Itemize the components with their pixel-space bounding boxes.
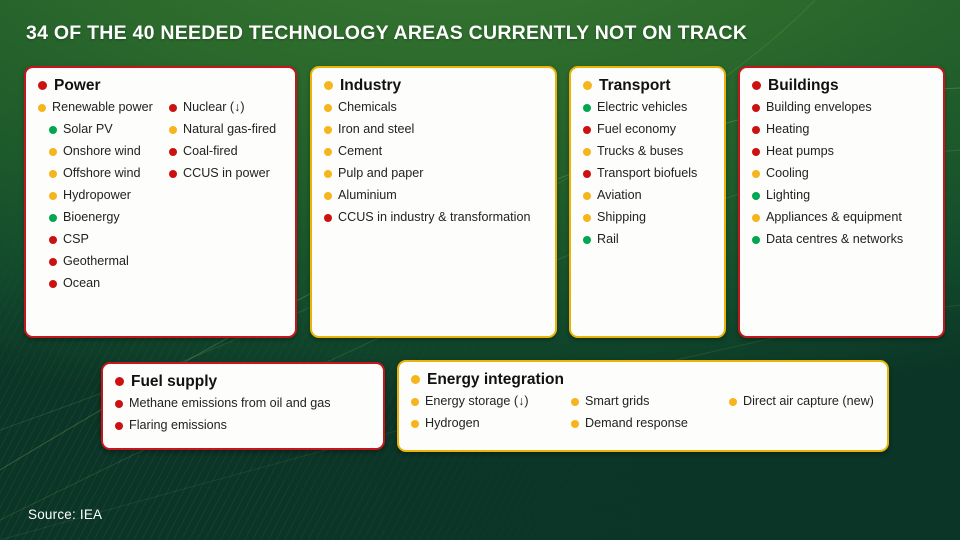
list-item-label: Electric vehicles — [597, 100, 687, 114]
list-item[interactable]: Nuclear (↓) — [169, 100, 283, 114]
list-item[interactable]: Hydropower — [38, 188, 169, 202]
panel-transport[interactable]: Transport Electric vehicles Fuel economy… — [569, 66, 726, 338]
panel-industry-title: Industry — [340, 78, 401, 94]
status-dot-amber — [411, 420, 419, 428]
list-item[interactable]: Data centres & networks — [752, 232, 931, 246]
page-title: 34 OF THE 40 NEEDED TECHNOLOGY AREAS CUR… — [26, 22, 747, 45]
list-item[interactable]: Smart grids — [571, 394, 729, 408]
list-item-label: Ocean — [63, 276, 100, 290]
list-item-label: Iron and steel — [338, 122, 414, 136]
list-item[interactable]: Solar PV — [38, 122, 169, 136]
list-item-label: CSP — [63, 232, 89, 246]
list-item[interactable]: Rail — [583, 232, 712, 246]
list-item-label: Fuel economy — [597, 122, 676, 136]
panel-energy-integration[interactable]: Energy integration Energy storage (↓) Hy… — [397, 360, 889, 452]
panel-transport-title: Transport — [599, 78, 670, 94]
list-item-label: Bioenergy — [63, 210, 120, 224]
panel-energy-integration-column-3: Direct air capture (new) — [729, 394, 889, 438]
status-dot-amber — [324, 148, 332, 156]
list-item[interactable]: Methane emissions from oil and gas — [115, 396, 371, 410]
status-dot-amber — [49, 170, 57, 178]
list-item-label: Smart grids — [585, 394, 649, 408]
panel-transport-body: Electric vehicles Fuel economy Trucks & … — [583, 100, 712, 247]
status-dot-red — [115, 377, 124, 386]
list-item-label: Trucks & buses — [597, 144, 683, 158]
panel-industry-header: Industry — [324, 78, 543, 94]
list-item-label: CCUS in power — [183, 166, 270, 180]
list-item[interactable]: Trucks & buses — [583, 144, 712, 158]
list-item-label: Heating — [766, 122, 809, 136]
panel-fuel-supply[interactable]: Fuel supply Methane emissions from oil a… — [101, 362, 385, 450]
list-item-label: Renewable power — [52, 100, 153, 114]
status-dot-amber — [411, 375, 420, 384]
status-dot-red — [752, 126, 760, 134]
status-dot-amber — [583, 192, 591, 200]
list-item-label: Solar PV — [63, 122, 113, 136]
panel-power-column-left: Renewable power Solar PV Onshore wind Of… — [38, 100, 169, 299]
status-dot-red — [49, 236, 57, 244]
list-item-label: Flaring emissions — [129, 418, 227, 432]
list-item[interactable]: Heat pumps — [752, 144, 931, 158]
status-dot-amber — [411, 398, 419, 406]
list-item-label: Rail — [597, 232, 619, 246]
list-item[interactable]: Ocean — [38, 276, 169, 290]
list-item-label: Hydropower — [63, 188, 131, 202]
list-item[interactable]: Aviation — [583, 188, 712, 202]
panel-energy-integration-header: Energy integration — [411, 372, 875, 388]
list-item[interactable]: Geothermal — [38, 254, 169, 268]
panel-power-header: Power — [38, 78, 283, 94]
list-item-label: Aluminium — [338, 188, 397, 202]
list-item[interactable]: Transport biofuels — [583, 166, 712, 180]
list-item-label: Coal-fired — [183, 144, 238, 158]
list-item[interactable]: Cement — [324, 144, 543, 158]
list-item-label: Geothermal — [63, 254, 129, 268]
list-item-label: Chemicals — [338, 100, 397, 114]
status-dot-amber — [571, 398, 579, 406]
panel-fuel-supply-header: Fuel supply — [115, 374, 371, 390]
panel-power-title: Power — [54, 78, 101, 94]
list-item[interactable]: Direct air capture (new) — [729, 394, 889, 408]
panel-power-body: Renewable power Solar PV Onshore wind Of… — [38, 100, 283, 299]
list-item[interactable]: Electric vehicles — [583, 100, 712, 114]
status-dot-red — [583, 170, 591, 178]
status-dot-amber — [583, 148, 591, 156]
source-label: Source: IEA — [28, 507, 102, 522]
status-dot-amber — [324, 126, 332, 134]
panel-power-column-right: Nuclear (↓) Natural gas-fired Coal-fired… — [169, 100, 283, 299]
list-item-label: Appliances & equipment — [766, 210, 902, 224]
status-dot-amber — [324, 170, 332, 178]
status-dot-red — [115, 400, 123, 408]
list-item[interactable]: Demand response — [571, 416, 729, 430]
list-item[interactable]: Cooling — [752, 166, 931, 180]
list-item-label: Transport biofuels — [597, 166, 697, 180]
list-item-label: Pulp and paper — [338, 166, 423, 180]
list-item-label: Building envelopes — [766, 100, 872, 114]
status-dot-red — [324, 214, 332, 222]
list-item-label: Data centres & networks — [766, 232, 903, 246]
list-item[interactable]: Shipping — [583, 210, 712, 224]
status-dot-red — [752, 104, 760, 112]
status-dot-amber — [49, 192, 57, 200]
status-dot-green — [583, 104, 591, 112]
list-item[interactable]: Lighting — [752, 188, 931, 202]
list-item[interactable]: Offshore wind — [38, 166, 169, 180]
panel-buildings[interactable]: Buildings Building envelopes Heating Hea… — [738, 66, 945, 338]
list-item-label: Cement — [338, 144, 382, 158]
list-item-label: Shipping — [597, 210, 646, 224]
panel-fuel-supply-body: Methane emissions from oil and gas Flari… — [115, 396, 371, 432]
list-item-label: Energy storage (↓) — [425, 394, 529, 408]
list-item[interactable]: Pulp and paper — [324, 166, 543, 180]
status-dot-red — [169, 148, 177, 156]
panel-buildings-header: Buildings — [752, 78, 931, 94]
list-item[interactable]: CCUS in power — [169, 166, 283, 180]
status-dot-amber — [169, 126, 177, 134]
list-item[interactable]: Building envelopes — [752, 100, 931, 114]
list-item[interactable]: Appliances & equipment — [752, 210, 931, 224]
status-dot-red — [49, 258, 57, 266]
status-dot-red — [169, 170, 177, 178]
list-item[interactable]: CCUS in industry & transformation — [324, 210, 543, 224]
status-dot-amber — [583, 214, 591, 222]
status-dot-amber — [583, 81, 592, 90]
status-dot-amber — [752, 214, 760, 222]
list-item[interactable]: Chemicals — [324, 100, 543, 114]
status-dot-amber — [38, 104, 46, 112]
list-item[interactable]: Coal-fired — [169, 144, 283, 158]
panel-buildings-title: Buildings — [768, 78, 839, 94]
status-dot-amber — [729, 398, 737, 406]
list-item-label: Nuclear (↓) — [183, 100, 245, 114]
status-dot-amber — [752, 170, 760, 178]
status-dot-amber — [571, 420, 579, 428]
panel-energy-integration-title: Energy integration — [427, 372, 564, 388]
status-dot-green — [752, 236, 760, 244]
list-item-label: CCUS in industry & transformation — [338, 210, 530, 224]
status-dot-green — [752, 192, 760, 200]
status-dot-amber — [49, 148, 57, 156]
list-item-label: Lighting — [766, 188, 810, 202]
list-item-label: Offshore wind — [63, 166, 140, 180]
status-dot-green — [49, 126, 57, 134]
panel-industry[interactable]: Industry Chemicals Iron and steel Cement… — [310, 66, 557, 338]
list-item[interactable]: Hydrogen — [411, 416, 571, 430]
status-dot-red — [115, 422, 123, 430]
list-item-label: Aviation — [597, 188, 642, 202]
list-item-label: Cooling — [766, 166, 809, 180]
list-item[interactable]: Bioenergy — [38, 210, 169, 224]
status-dot-red — [169, 104, 177, 112]
list-item-label: Hydrogen — [425, 416, 480, 430]
status-dot-amber — [324, 192, 332, 200]
list-item-label: Onshore wind — [63, 144, 141, 158]
status-dot-amber — [324, 81, 333, 90]
list-item[interactable]: CSP — [38, 232, 169, 246]
status-dot-red — [583, 126, 591, 134]
status-dot-green — [49, 214, 57, 222]
status-dot-red — [38, 81, 47, 90]
panel-energy-integration-column-2: Smart grids Demand response — [571, 394, 729, 438]
list-item[interactable]: Energy storage (↓) — [411, 394, 571, 408]
list-item[interactable]: Flaring emissions — [115, 418, 371, 432]
panel-energy-integration-body: Energy storage (↓) Hydrogen Smart grids … — [411, 394, 875, 438]
list-item[interactable]: Onshore wind — [38, 144, 169, 158]
status-dot-green — [583, 236, 591, 244]
list-item-label: Heat pumps — [766, 144, 834, 158]
list-item-label: Natural gas-fired — [183, 122, 276, 136]
panel-industry-body: Chemicals Iron and steel Cement Pulp and… — [324, 100, 543, 225]
panel-energy-integration-column-1: Energy storage (↓) Hydrogen — [411, 394, 571, 438]
status-dot-red — [752, 148, 760, 156]
list-item[interactable]: Iron and steel — [324, 122, 543, 136]
panel-fuel-supply-title: Fuel supply — [131, 374, 217, 390]
panel-transport-header: Transport — [583, 78, 712, 94]
list-item[interactable]: Natural gas-fired — [169, 122, 283, 136]
status-dot-amber — [324, 104, 332, 112]
status-dot-red — [752, 81, 761, 90]
panel-buildings-body: Building envelopes Heating Heat pumps Co… — [752, 100, 931, 247]
list-item[interactable]: Renewable power — [38, 100, 169, 114]
list-item[interactable]: Heating — [752, 122, 931, 136]
list-item-label: Methane emissions from oil and gas — [129, 396, 331, 410]
list-item-label: Demand response — [585, 416, 688, 430]
status-dot-red — [49, 280, 57, 288]
panel-power[interactable]: Power Renewable power Solar PV Onshore w… — [24, 66, 297, 338]
list-item[interactable]: Aluminium — [324, 188, 543, 202]
list-item-label: Direct air capture (new) — [743, 394, 874, 408]
list-item[interactable]: Fuel economy — [583, 122, 712, 136]
